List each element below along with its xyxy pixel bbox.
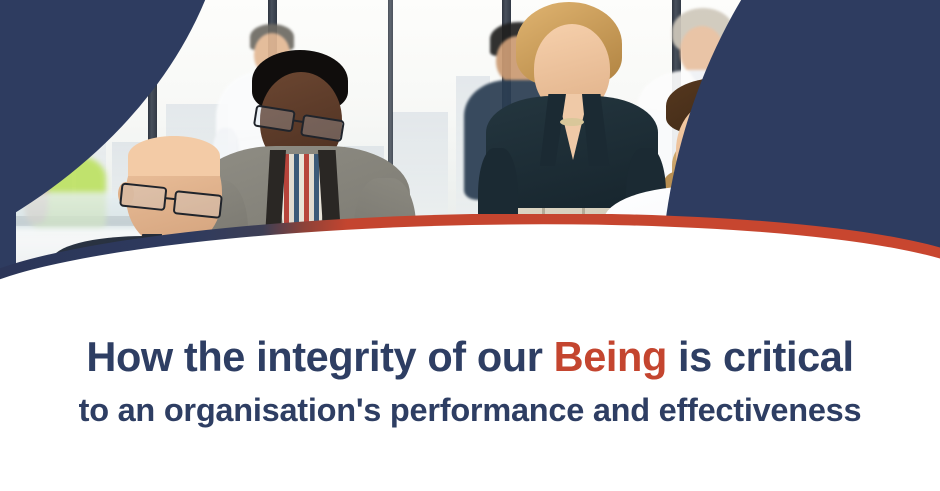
hero-photo — [0, 0, 940, 300]
headline-accent-word: Being — [554, 333, 667, 380]
headline-part2: is critical — [667, 333, 854, 380]
page-title: How the integrity of our Being is critic… — [0, 336, 940, 378]
page-subtitle: to an organisation's performance and eff… — [0, 394, 940, 427]
curved-divider-band — [0, 214, 940, 300]
navy-edge-fill-right — [820, 0, 940, 54]
hero-banner: How the integrity of our Being is critic… — [0, 0, 940, 491]
headline-block: How the integrity of our Being is critic… — [0, 300, 940, 491]
headline-part1: How the integrity of our — [86, 333, 553, 380]
